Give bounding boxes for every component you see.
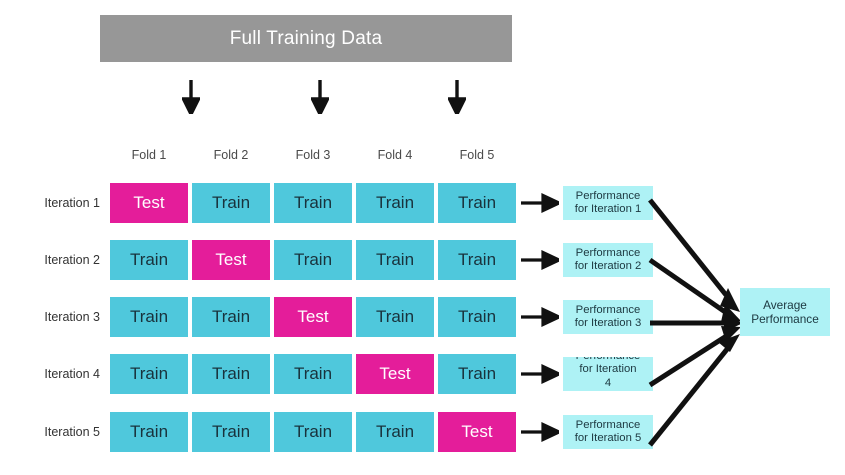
- performance-box[interactable]: Performance for Iteration 4: [563, 357, 653, 391]
- down-arrow-icon: [311, 80, 329, 114]
- full-training-data-label: Full Training Data: [230, 28, 383, 50]
- fold-cell[interactable]: Train: [192, 412, 270, 452]
- full-training-data-bar: Full Training Data: [100, 15, 512, 62]
- down-arrow-icon: [448, 80, 466, 114]
- performance-box-line2: for Iteration 1: [575, 203, 642, 217]
- converging-arrow-icon: [650, 334, 740, 445]
- down-arrow-icon: [182, 80, 200, 114]
- performance-box[interactable]: Performance for Iteration 1: [563, 186, 653, 220]
- performance-box-line3: 4: [576, 377, 641, 391]
- fold-cell[interactable]: Train: [438, 240, 516, 280]
- fold-header-5: Fold 5: [438, 148, 516, 162]
- performance-box-line1: Performance: [576, 190, 641, 204]
- kfold-cross-validation-diagram: Full Training Data Fold 1 Fold 2 Fold 3 …: [0, 0, 845, 475]
- performance-box-line2: for Iteration 2: [575, 260, 642, 274]
- average-performance-line1: Average: [763, 298, 807, 312]
- converging-arrow-icon: [650, 326, 741, 385]
- right-arrow-icon: [521, 422, 559, 442]
- fold-cell[interactable]: Train: [438, 183, 516, 223]
- fold-cell[interactable]: Train: [274, 354, 352, 394]
- average-performance-box[interactable]: Average Performance: [740, 288, 830, 336]
- fold-cell[interactable]: Test: [356, 354, 434, 394]
- fold-cell[interactable]: Train: [438, 297, 516, 337]
- fold-cell[interactable]: Train: [356, 412, 434, 452]
- iteration-label-2: Iteration 2: [20, 240, 100, 280]
- performance-box[interactable]: Performance for Iteration 5: [563, 415, 653, 449]
- performance-box-line2: for Iteration: [576, 363, 641, 377]
- fold-cell[interactable]: Train: [110, 240, 188, 280]
- fold-cell[interactable]: Train: [110, 354, 188, 394]
- fold-cell[interactable]: Test: [192, 240, 270, 280]
- performance-box-line1: Performance: [576, 419, 641, 433]
- fold-cell[interactable]: Test: [274, 297, 352, 337]
- performance-box-line1: Performance: [576, 304, 641, 318]
- performance-box-inner: Performance for Iteration 4: [576, 357, 641, 390]
- performance-box[interactable]: Performance for Iteration 3: [563, 300, 653, 334]
- fold-cell[interactable]: Train: [192, 354, 270, 394]
- performance-box[interactable]: Performance for Iteration 2: [563, 243, 653, 277]
- performance-box-line2: for Iteration 3: [575, 317, 642, 331]
- right-arrow-icon: [521, 307, 559, 327]
- fold-cell[interactable]: Train: [192, 183, 270, 223]
- fold-cell[interactable]: Train: [192, 297, 270, 337]
- fold-cell[interactable]: Train: [356, 297, 434, 337]
- iteration-label-4: Iteration 4: [20, 354, 100, 394]
- performance-box-line2: for Iteration 5: [575, 432, 642, 446]
- fold-header-1: Fold 1: [110, 148, 188, 162]
- fold-cell[interactable]: Test: [110, 183, 188, 223]
- fold-cell[interactable]: Train: [438, 354, 516, 394]
- iteration-label-3: Iteration 3: [20, 297, 100, 337]
- converging-arrow-icon: [650, 200, 740, 312]
- average-performance-line2: Performance: [751, 312, 819, 326]
- fold-cell[interactable]: Train: [274, 183, 352, 223]
- iteration-label-1: Iteration 1: [20, 183, 100, 223]
- fold-cell[interactable]: Train: [110, 297, 188, 337]
- fold-cell[interactable]: Train: [110, 412, 188, 452]
- fold-header-4: Fold 4: [356, 148, 434, 162]
- fold-cell[interactable]: Test: [438, 412, 516, 452]
- right-arrow-icon: [521, 193, 559, 213]
- iteration-label-5: Iteration 5: [20, 412, 100, 452]
- fold-cell[interactable]: Train: [274, 412, 352, 452]
- fold-cell[interactable]: Train: [356, 183, 434, 223]
- fold-header-3: Fold 3: [274, 148, 352, 162]
- right-arrow-icon: [521, 250, 559, 270]
- right-arrow-icon: [521, 364, 559, 384]
- performance-box-line1: Performance: [576, 247, 641, 261]
- fold-header-2: Fold 2: [192, 148, 270, 162]
- fold-cell[interactable]: Train: [356, 240, 434, 280]
- fold-cell[interactable]: Train: [274, 240, 352, 280]
